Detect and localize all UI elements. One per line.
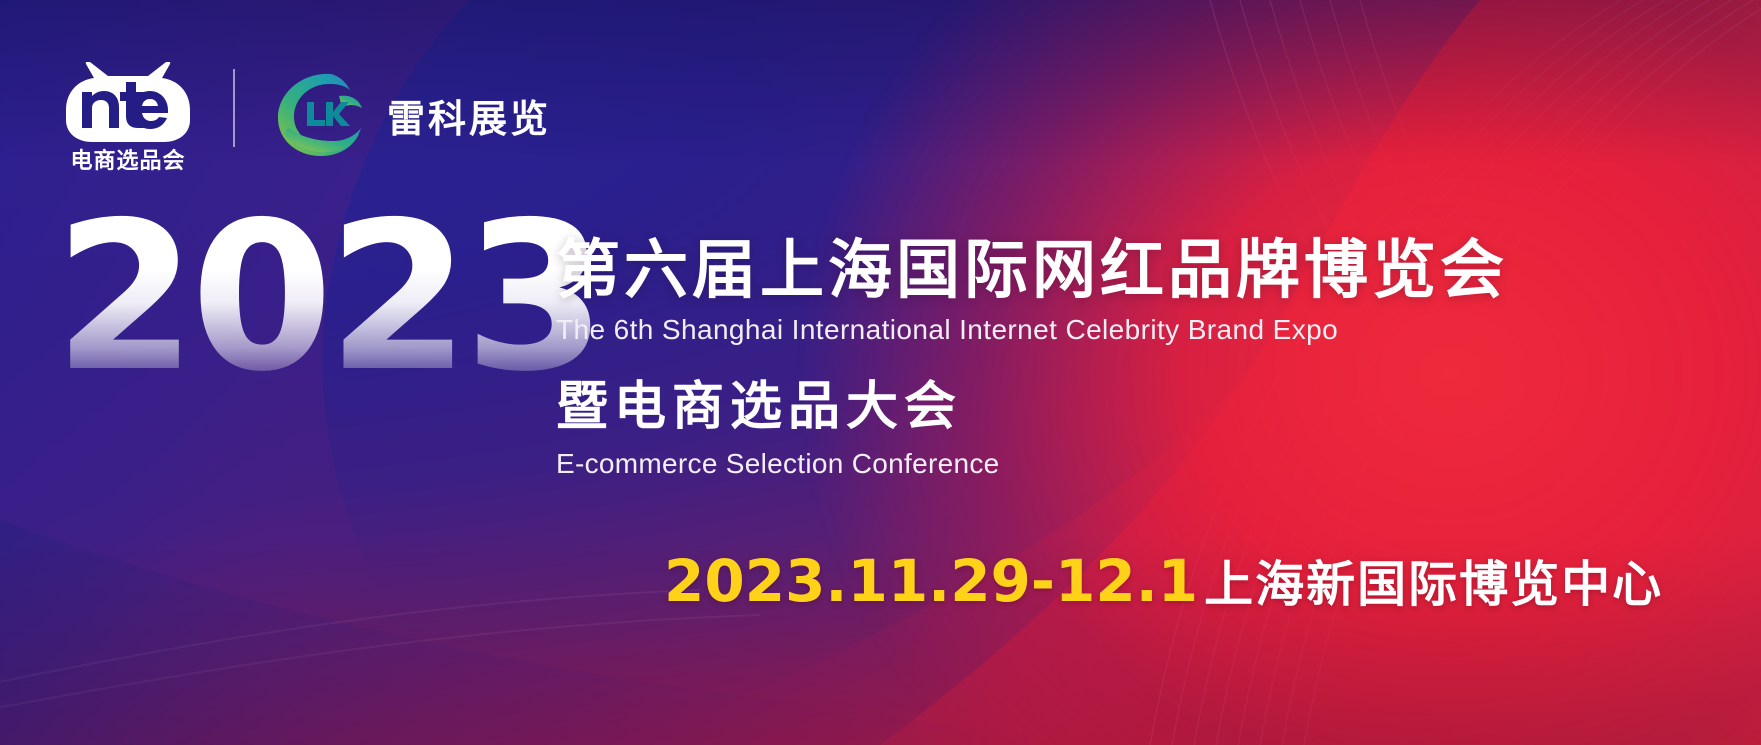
event-banner: 电商选品会 (0, 0, 1761, 745)
event-date: 2023.11.29-12.1 (664, 547, 1198, 615)
leike-leaf-icon (269, 66, 365, 162)
title-english: The 6th Shanghai International Internet … (556, 314, 1508, 346)
title-block: 第六届上海国际网红品牌博览会 The 6th Shanghai Internat… (556, 236, 1508, 480)
leike-name-label: 雷科展览 (387, 88, 551, 143)
nte-logo: 电商选品会 (64, 62, 199, 172)
subtitle-english: E-commerce Selection Conference (556, 448, 1508, 480)
date-venue-row: 2023.11.29-12.1 上海新国际博览中心 (664, 545, 1663, 616)
year-display: 2023 (54, 196, 601, 401)
title-chinese: 第六届上海国际网红品牌博览会 (556, 236, 1508, 305)
event-venue: 上海新国际博览中心 (1204, 545, 1663, 616)
logo-row: 电商选品会 (64, 62, 551, 172)
nte-mark-icon (64, 62, 192, 144)
logo-divider (233, 69, 235, 147)
subtitle-chinese: 暨电商选品大会 (556, 364, 1508, 439)
nte-sub-label: 电商选品会 (64, 149, 192, 172)
